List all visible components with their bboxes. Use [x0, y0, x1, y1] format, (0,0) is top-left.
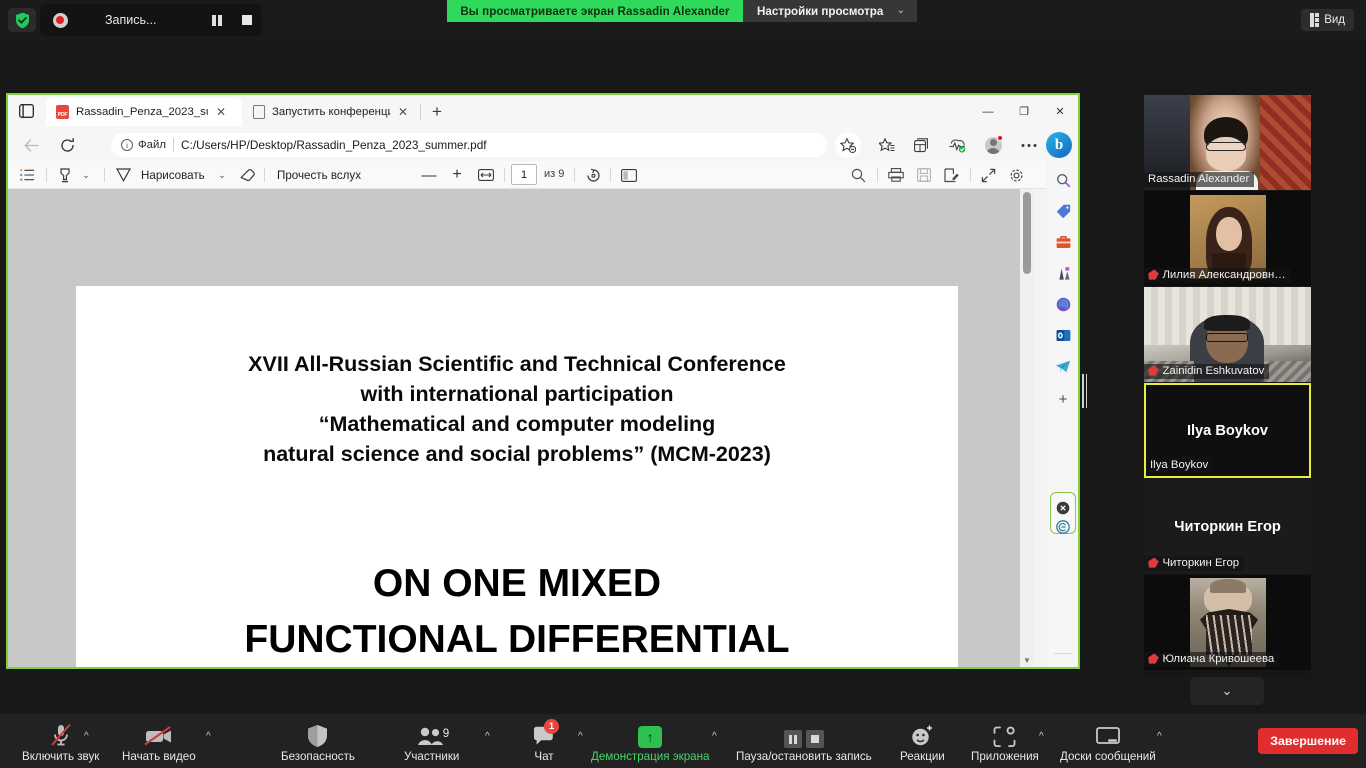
whiteboards-label: Доски сообщений [1060, 750, 1156, 764]
pdf-toolbar: ⌄ Нарисовать ⌄ Прочесть вслух — + 1 [8, 161, 1046, 189]
participant-tile-active-speaker[interactable]: Ilya Boykov Ilya Boykov [1144, 383, 1311, 478]
video-muted-icon [144, 722, 174, 748]
panel-drag-handle[interactable] [1082, 374, 1090, 408]
participant-tile[interactable]: ⬟ Лилия Александровн… [1144, 191, 1311, 286]
share-screen-label: Демонстрация экрана [591, 750, 709, 764]
refresh-icon[interactable] [56, 134, 78, 156]
participants-button[interactable]: 9 Участники [404, 722, 459, 764]
layout-grid-icon [1310, 13, 1319, 27]
audio-options-chevron-icon[interactable]: ^ [84, 731, 89, 742]
recording-label: Запись... [80, 13, 202, 27]
view-options-label: Настройки просмотра [757, 5, 883, 18]
participant-name-label: ⬟ Zainidin Eshkuvatov [1144, 364, 1269, 379]
navigation-bar: i Файл C:/Users/HP/Desktop/Rassadin_Penz… [8, 128, 1078, 161]
read-aloud-button[interactable]: Прочесть вслух [272, 164, 366, 186]
view-layout-label: Вид [1324, 14, 1345, 26]
divider [173, 138, 174, 152]
url-text: C:/Users/HP/Desktop/Rassadin_Penza_2023_… [181, 138, 487, 152]
chevron-down-icon[interactable]: ▼ [1020, 653, 1034, 667]
fullscreen-icon[interactable] [976, 164, 1000, 186]
whiteboards-button[interactable]: Доски сообщений [1060, 722, 1156, 764]
conf-line: “Mathematical and computer modeling [76, 409, 958, 439]
chat-unread-badge: 1 [544, 719, 559, 734]
chevron-down-icon[interactable]: ⌄ [212, 164, 232, 186]
more-ellipsis-icon[interactable] [1016, 132, 1042, 158]
search-icon[interactable] [1051, 168, 1075, 192]
participant-tile[interactable]: ⬟ Zainidin Eshkuvatov [1144, 287, 1311, 382]
tab-label: Запустить конференцию - Zoo [272, 106, 390, 118]
unmute-button[interactable]: Включить звук [22, 722, 99, 764]
microphone-muted-icon: ⬟ [1147, 557, 1160, 569]
chevron-down-icon: ⌄ [897, 5, 905, 16]
edge-drop-icon[interactable] [1051, 515, 1075, 539]
participant-name: Лилия Александровн… [1162, 269, 1285, 281]
reactions-button[interactable]: Реакции [900, 722, 945, 764]
participant-name-label: ⬟ Лилия Александровн… [1144, 268, 1291, 283]
apps-label: Приложения [971, 750, 1039, 764]
share-screen-button[interactable]: ↑ Демонстрация экрана [591, 722, 709, 764]
pdf-file-icon: PDF [55, 105, 70, 120]
top-bar: Запись... Вы просматриваете экран Rassad… [0, 0, 1366, 40]
participant-name-label: ⬟ Читоркин Егор [1144, 556, 1244, 571]
viewing-screen-banner: Вы просматриваете экран Rassadin Alexand… [447, 0, 743, 22]
shield-check-icon[interactable] [8, 8, 36, 32]
reactions-label: Реакции [900, 750, 945, 764]
draw-pen-icon[interactable] [112, 164, 134, 186]
edge-browser-window: PDF Rassadin_Penza_2023_summer.p ✕ Запус… [8, 95, 1078, 667]
fit-page-icon[interactable] [475, 164, 497, 186]
unmute-label: Включить звук [22, 750, 99, 764]
end-meeting-button[interactable]: Завершение [1258, 728, 1358, 754]
outlook-icon[interactable] [1051, 323, 1075, 347]
pause-stop-recording-icon [784, 722, 824, 748]
security-label: Безопасность [281, 750, 355, 764]
microphone-muted-icon: ⬟ [1147, 365, 1160, 377]
share-screen-arrow-icon: ↑ [638, 722, 662, 748]
pdf-conference-heading: XVII All-Russian Scientific and Technica… [76, 349, 958, 469]
chat-button[interactable]: 1 Чат [532, 722, 556, 764]
office-icon[interactable] [1051, 292, 1075, 316]
view-layout-button[interactable]: Вид [1301, 9, 1354, 31]
zoom-out-button[interactable]: — [419, 164, 439, 186]
edge-sidebar: + [1048, 161, 1078, 667]
divider [420, 104, 421, 120]
tab-strip: PDF Rassadin_Penza_2023_summer.p ✕ Запус… [8, 95, 1078, 128]
view-options-button[interactable]: Настройки просмотра ⌄ [743, 0, 917, 22]
zoom-meeting-window: Запись... Вы просматриваете экран Rassad… [0, 0, 1366, 768]
close-icon[interactable]: ✕ [214, 106, 228, 118]
participant-name: Читоркин Егор [1162, 557, 1239, 569]
pause-stop-recording-label: Пауза/остановить запись [736, 750, 872, 764]
whiteboard-icon [1095, 722, 1121, 748]
participant-name-label: ⬟ Юлиана Кривошеева [1144, 652, 1279, 667]
title-line: ON ONE MIXED [76, 556, 958, 612]
new-tab-button[interactable]: + [432, 103, 442, 120]
add-plus-icon[interactable]: + [1051, 387, 1075, 411]
apps-button[interactable]: Приложения [971, 722, 1039, 764]
telegram-icon[interactable] [1051, 354, 1075, 378]
reactions-smiley-icon [910, 722, 934, 748]
stop-icon[interactable] [232, 15, 262, 25]
address-bar[interactable]: i Файл C:/Users/HP/Desktop/Rassadin_Penz… [111, 133, 827, 157]
participant-name-label: Rassadin Alexander [1144, 172, 1254, 187]
pause-stop-recording-button[interactable]: Пауза/остановить запись [736, 722, 872, 764]
eraser-icon[interactable] [236, 164, 258, 186]
start-video-button[interactable]: Начать видео [122, 722, 196, 764]
arrow-left-icon[interactable] [20, 134, 42, 156]
participant-tile[interactable]: ⬟ Юлиана Кривошеева [1144, 575, 1311, 670]
participants-panel: Rassadin Alexander ⬟ Лилия Александровн… [1144, 95, 1311, 677]
microphone-muted-icon: ⬟ [1147, 653, 1160, 665]
collections-star-icon[interactable] [874, 132, 900, 158]
save-icon[interactable] [912, 164, 936, 186]
apps-icon [993, 722, 1016, 748]
pause-icon[interactable] [202, 15, 232, 26]
tools-briefcase-icon[interactable] [1051, 230, 1075, 254]
microphone-muted-icon [48, 722, 74, 748]
participant-name: Ilya Boykov [1150, 459, 1208, 471]
pdf-scrollbar[interactable]: ▼ [1020, 189, 1034, 667]
scrollbar-thumb[interactable] [1023, 192, 1031, 274]
pdf-page-1: XVII All-Russian Scientific and Technica… [76, 286, 958, 667]
tab-pdf-document[interactable]: PDF Rassadin_Penza_2023_summer.p ✕ [46, 98, 242, 126]
highlighter-icon[interactable] [54, 164, 76, 186]
chat-chevron-icon[interactable]: ^ [578, 731, 583, 742]
chat-label: Чат [534, 750, 553, 764]
favorite-add-icon[interactable] [835, 132, 861, 158]
collections-icon[interactable] [909, 132, 935, 158]
page-number-input[interactable]: 1 [511, 164, 537, 185]
maximize-button[interactable]: ❐ [1006, 95, 1042, 128]
tab-label: Rassadin_Penza_2023_summer.p [76, 106, 208, 118]
whiteboards-chevron-icon[interactable]: ^ [1157, 731, 1162, 742]
profile-avatar-icon[interactable] [980, 132, 1006, 158]
close-icon[interactable]: ✕ [396, 106, 410, 118]
participant-tile[interactable]: Rassadin Alexander [1144, 95, 1311, 190]
settings-gear-icon[interactable] [1004, 164, 1028, 186]
table-of-contents-icon[interactable] [16, 164, 38, 186]
recording-indicator: Запись... [40, 4, 262, 36]
participant-name: Юлиана Кривошеева [1162, 653, 1274, 665]
pdf-viewer-area: XVII All-Russian Scientific and Technica… [8, 189, 1030, 667]
pause-icon[interactable] [784, 730, 802, 748]
video-options-chevron-icon[interactable]: ^ [206, 731, 211, 742]
page-total-label: из 9 [544, 168, 564, 180]
close-window-button[interactable]: ✕ [1042, 95, 1078, 128]
draw-label[interactable]: Нарисовать [136, 164, 210, 186]
page-icon [251, 105, 266, 120]
info-circle-icon[interactable]: i [121, 139, 133, 151]
record-dot-icon [40, 13, 80, 28]
participant-name: Rassadin Alexander [1148, 173, 1249, 185]
participants-count: 9 [443, 727, 449, 740]
shield-icon [306, 722, 329, 748]
microphone-muted-icon: ⬟ [1147, 269, 1160, 281]
copilot-icon[interactable]: b [1046, 132, 1072, 158]
conf-line: with international participation [76, 379, 958, 409]
url-scheme-label: Файл [138, 139, 166, 151]
start-video-label: Начать видео [122, 750, 196, 764]
pdf-main-title: ON ONE MIXED FUNCTIONAL DIFFERENTIAL EQU… [76, 556, 958, 667]
title-line: FUNCTIONAL DIFFERENTIAL [76, 612, 958, 667]
apps-chevron-icon[interactable]: ^ [1039, 731, 1044, 742]
share-options-chevron-icon[interactable]: ^ [712, 731, 717, 742]
annotate-icon[interactable] [940, 164, 964, 186]
participants-icon: 9 [417, 722, 447, 748]
rotate-icon[interactable] [582, 164, 604, 186]
tab-list-icon[interactable] [16, 102, 36, 120]
meeting-control-bar: Включить звук ^ Начать видео ^ Безопасно… [0, 714, 1366, 768]
chat-bubble-icon: 1 [532, 722, 556, 748]
stop-icon[interactable] [806, 730, 824, 748]
shared-screen-region: PDF Rassadin_Penza_2023_summer.p ✕ Запус… [6, 93, 1080, 669]
tab-zoom-launch[interactable]: Запустить конференцию - Zoo ✕ [242, 98, 418, 126]
page-layout-icon[interactable] [618, 164, 640, 186]
scroll-down-participants-button[interactable]: ⌄ [1190, 677, 1264, 705]
games-icon[interactable] [1051, 261, 1075, 285]
security-button[interactable]: Безопасность [281, 722, 355, 764]
chevron-down-icon[interactable]: ⌄ [76, 164, 96, 186]
search-icon[interactable] [846, 164, 870, 186]
shopping-tag-icon[interactable] [1051, 199, 1075, 223]
print-icon[interactable] [884, 164, 908, 186]
browser-essentials-icon[interactable] [944, 132, 970, 158]
participant-name: Zainidin Eshkuvatov [1162, 365, 1264, 377]
participants-chevron-icon[interactable]: ^ [485, 731, 490, 742]
participant-name-label: Ilya Boykov [1146, 458, 1213, 473]
conf-line: XVII All-Russian Scientific and Technica… [76, 349, 958, 379]
participants-label: Участники [404, 750, 459, 764]
minimize-button[interactable]: — [970, 95, 1006, 128]
participant-tile[interactable]: Читоркин Егор ⬟ Читоркин Егор [1144, 479, 1311, 574]
conf-line: natural science and social problems” (MC… [76, 439, 958, 469]
zoom-in-button[interactable]: + [447, 164, 467, 186]
